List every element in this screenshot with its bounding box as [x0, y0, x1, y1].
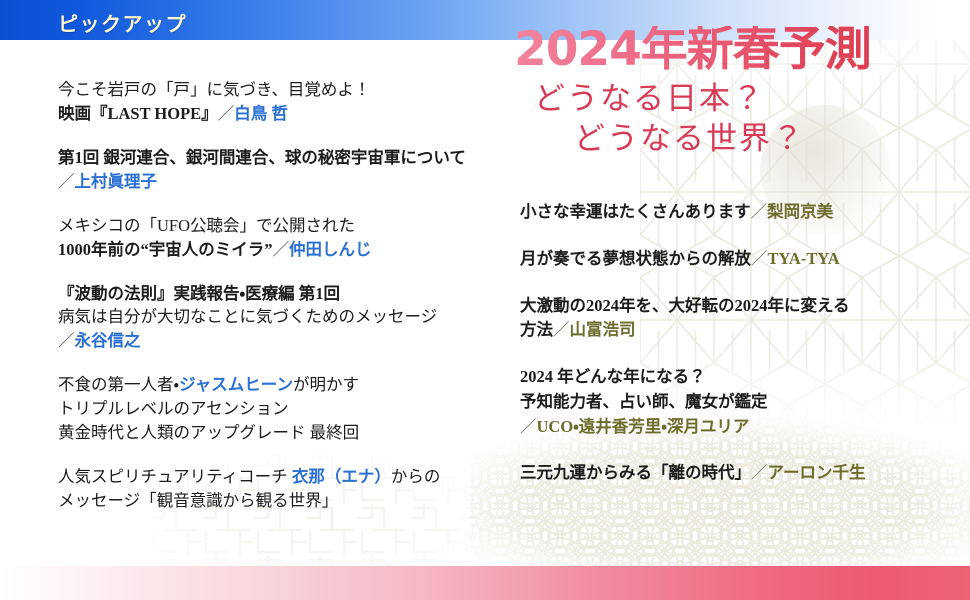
- separator: ／: [553, 320, 570, 339]
- entry-line: 病気は自分が大切なことに気づくためのメッセージ: [58, 305, 498, 329]
- list-item[interactable]: 三元九運からみる「離の時代」／アーロン千生: [520, 461, 970, 486]
- entry-line: 2024 年どんな年になる？: [520, 365, 970, 390]
- entry-line-with-author: 三元九運からみる「離の時代」／アーロン千生: [520, 461, 970, 486]
- entry-line: 今こそ岩戸の「戸」に気づき、目覚めよ！: [58, 78, 498, 102]
- page-title: ピックアップ: [58, 8, 187, 37]
- entry-title: 小さな幸運はたくさんあります: [520, 202, 751, 221]
- entry-line: トリプルレベルのアセンション: [58, 397, 498, 421]
- entry-line-with-author: 小さな幸運はたくさんあります／梨岡京美: [520, 200, 970, 225]
- entry-line: 『波動の法則』実践報告・医療編 第1回: [58, 282, 498, 306]
- author-name[interactable]: 衣那（エナ）: [292, 467, 391, 486]
- separator: ／: [751, 463, 768, 482]
- footer-bar: [0, 566, 970, 600]
- author-name[interactable]: 上村眞理子: [75, 172, 158, 191]
- list-item[interactable]: 『波動の法則』実践報告・医療編 第1回 病気は自分が大切なことに気づくためのメッ…: [58, 282, 498, 354]
- author-name[interactable]: 永谷信之: [75, 331, 141, 350]
- entry-line: メッセージ「観音意識から観る世界」: [58, 489, 498, 513]
- separator: ／: [273, 240, 290, 259]
- entry-title: 月が奏でる夢想状態からの解放: [520, 249, 751, 268]
- entry-line-with-author: 月が奏でる夢想状態からの解放／TYA-TYA: [520, 247, 970, 272]
- separator: ／: [520, 417, 537, 436]
- author-name[interactable]: 仲田しんじ: [289, 240, 372, 259]
- entry-suffix: が明かす: [293, 375, 359, 394]
- subtitle-line-2: どうなる世界？: [534, 119, 970, 159]
- feature-title: 2024年新春予測: [500, 26, 970, 73]
- author-name[interactable]: 山富浩司: [570, 320, 636, 339]
- separator: ／: [751, 249, 768, 268]
- list-item[interactable]: 第1回 銀河連合、銀河間連合、球の秘密宇宙軍について ／上村眞理子: [58, 146, 498, 194]
- entry-prefix: 人気スピリチュアリティコーチ: [58, 467, 292, 486]
- list-item[interactable]: 小さな幸運はたくさんあります／梨岡京美: [520, 200, 970, 225]
- entry-suffix: からの: [391, 467, 441, 486]
- list-item[interactable]: 大激動の2024年を、大好転の2024年に変える 方法／山富浩司: [520, 294, 970, 344]
- entry-line-with-author: 映画『LAST HOPE』／白鳥 哲: [58, 102, 498, 126]
- entry-line-with-author: 人気スピリチュアリティコーチ 衣那（エナ）からの: [58, 465, 498, 489]
- separator: ／: [751, 202, 768, 221]
- subtitle-line-1: どうなる日本？: [534, 79, 970, 119]
- entry-line-with-author: ／永谷信之: [58, 329, 498, 353]
- author-name[interactable]: 梨岡京美: [767, 202, 833, 221]
- list-item[interactable]: 2024 年どんな年になる？ 予知能力者、占い師、魔女が鑑定 ／UCO・遠井香芳…: [520, 365, 970, 439]
- pickup-list: 今こそ岩戸の「戸」に気づき、目覚めよ！ 映画『LAST HOPE』／白鳥 哲 第…: [58, 78, 498, 533]
- list-item[interactable]: 月が奏でる夢想状態からの解放／TYA-TYA: [520, 247, 970, 272]
- feature-subtitle: どうなる日本？ どうなる世界？: [500, 79, 970, 158]
- entry-line: 大激動の2024年を、大好転の2024年に変える: [520, 294, 970, 319]
- entry-line-with-author: 1000年前の“宇宙人のミイラ”／仲田しんじ: [58, 238, 498, 262]
- author-name[interactable]: アーロン千生: [768, 463, 866, 482]
- separator: ／: [58, 331, 75, 350]
- author-name[interactable]: TYA-TYA: [768, 249, 840, 268]
- entry-title-tail: 方法: [520, 320, 553, 339]
- separator: ／: [218, 104, 235, 123]
- list-item[interactable]: メキシコの「UFO公聴会」で公開された 1000年前の“宇宙人のミイラ”／仲田し…: [58, 214, 498, 262]
- entry-line: メキシコの「UFO公聴会」で公開された: [58, 214, 498, 238]
- entry-line-with-author: 方法／山富浩司: [520, 318, 970, 343]
- separator: ／: [58, 172, 75, 191]
- entry-line: 第1回 銀河連合、銀河間連合、球の秘密宇宙軍について: [58, 146, 498, 170]
- entry-title: 三元九運からみる「離の時代」: [520, 463, 751, 482]
- author-name[interactable]: 白鳥 哲: [234, 104, 288, 123]
- entry-line-with-author: ／上村眞理子: [58, 170, 498, 194]
- author-name[interactable]: ジャスムヒーン: [179, 375, 293, 394]
- list-item[interactable]: 不食の第一人者・ジャスムヒーンが明かす トリプルレベルのアセンション 黄金時代と…: [58, 373, 498, 445]
- entry-line: 予知能力者、占い師、魔女が鑑定: [520, 390, 970, 415]
- author-name[interactable]: UCO・遠井香芳里・深月ユリア: [537, 417, 750, 436]
- pickup-page: ピックアップ 今こそ岩戸の「戸」に気づき、目覚めよ！ 映画『LAST HOPE』…: [0, 0, 970, 600]
- list-item[interactable]: 人気スピリチュアリティコーチ 衣那（エナ）からの メッセージ「観音意識から観る世…: [58, 465, 498, 513]
- feature-list: 小さな幸運はたくさんあります／梨岡京美 月が奏でる夢想状態からの解放／TYA-T…: [520, 200, 970, 508]
- feature-heading-block: 2024年新春予測 どうなる日本？ どうなる世界？: [500, 26, 970, 158]
- list-item[interactable]: 今こそ岩戸の「戸」に気づき、目覚めよ！ 映画『LAST HOPE』／白鳥 哲: [58, 78, 498, 126]
- entry-title-tail: 映画『LAST HOPE』: [58, 104, 218, 123]
- entry-line-with-author: ／UCO・遠井香芳里・深月ユリア: [520, 415, 970, 440]
- entry-prefix: 不食の第一人者・: [58, 375, 179, 394]
- entry-line-with-author: 不食の第一人者・ジャスムヒーンが明かす: [58, 373, 498, 397]
- entry-title-tail: 1000年前の“宇宙人のミイラ”: [58, 240, 273, 259]
- entry-line: 黄金時代と人類のアップグレード 最終回: [58, 421, 498, 445]
